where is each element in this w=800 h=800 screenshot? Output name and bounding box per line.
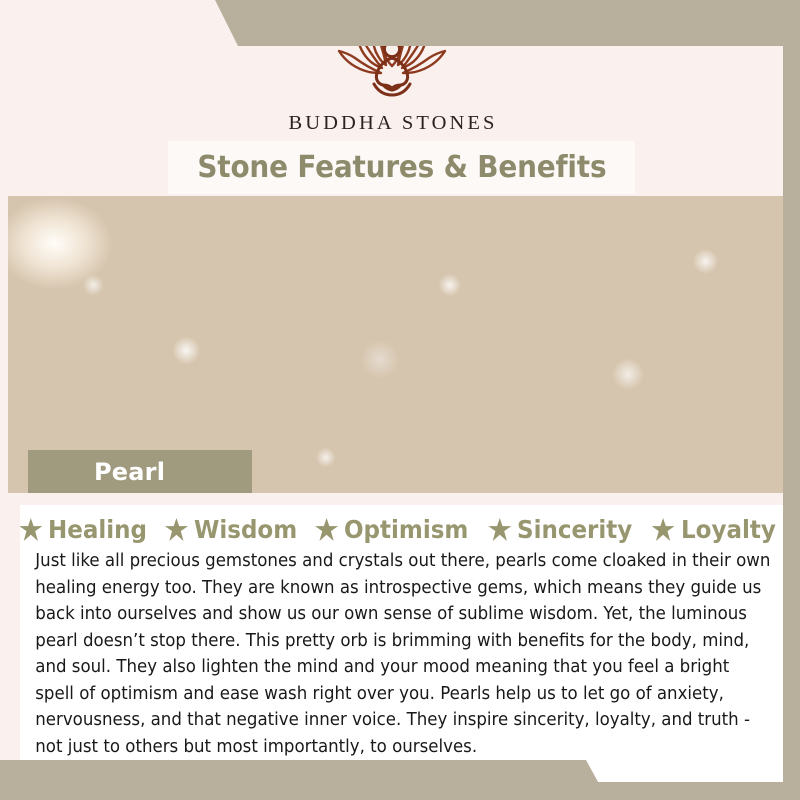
page-surface: BUDDHA STONES Pearl Stone Features & Ben… xyxy=(0,0,783,782)
description-paragraph: Just like all precious gemstones and cry… xyxy=(20,544,786,760)
photo-highlights xyxy=(8,196,783,493)
benefit-label: Healing xyxy=(48,515,147,544)
star-icon xyxy=(488,518,511,541)
benefits-row: Healing Wisdom Optimism Sincerity Loyalt… xyxy=(20,505,783,544)
benefit-label: Sincerity xyxy=(517,515,632,544)
benefit-item: Loyalty xyxy=(652,515,784,544)
star-icon xyxy=(19,518,42,541)
benefit-label: Wisdom xyxy=(194,515,297,544)
benefit-item: Wisdom xyxy=(165,515,306,544)
stone-benefits-poster: BUDDHA STONES Pearl Stone Features & Ben… xyxy=(0,0,800,800)
title-banner: Stone Features & Benefits xyxy=(168,141,635,194)
star-icon xyxy=(165,518,188,541)
brand-wordmark: BUDDHA STONES xyxy=(0,112,783,135)
star-icon xyxy=(315,518,338,541)
pearl-photo xyxy=(8,196,783,493)
benefit-item: Optimism xyxy=(315,515,479,544)
benefit-label: Loyalty xyxy=(681,515,776,544)
stone-name-label: Pearl xyxy=(28,458,165,486)
benefit-label: Optimism xyxy=(344,515,468,544)
benefit-item: Healing xyxy=(19,515,156,544)
content-panel: Healing Wisdom Optimism Sincerity Loyalt… xyxy=(20,505,783,782)
page-title: Stone Features & Benefits xyxy=(197,150,606,185)
benefit-item: Sincerity xyxy=(488,515,642,544)
star-icon xyxy=(652,518,675,541)
stone-name-banner: Pearl xyxy=(28,450,252,493)
